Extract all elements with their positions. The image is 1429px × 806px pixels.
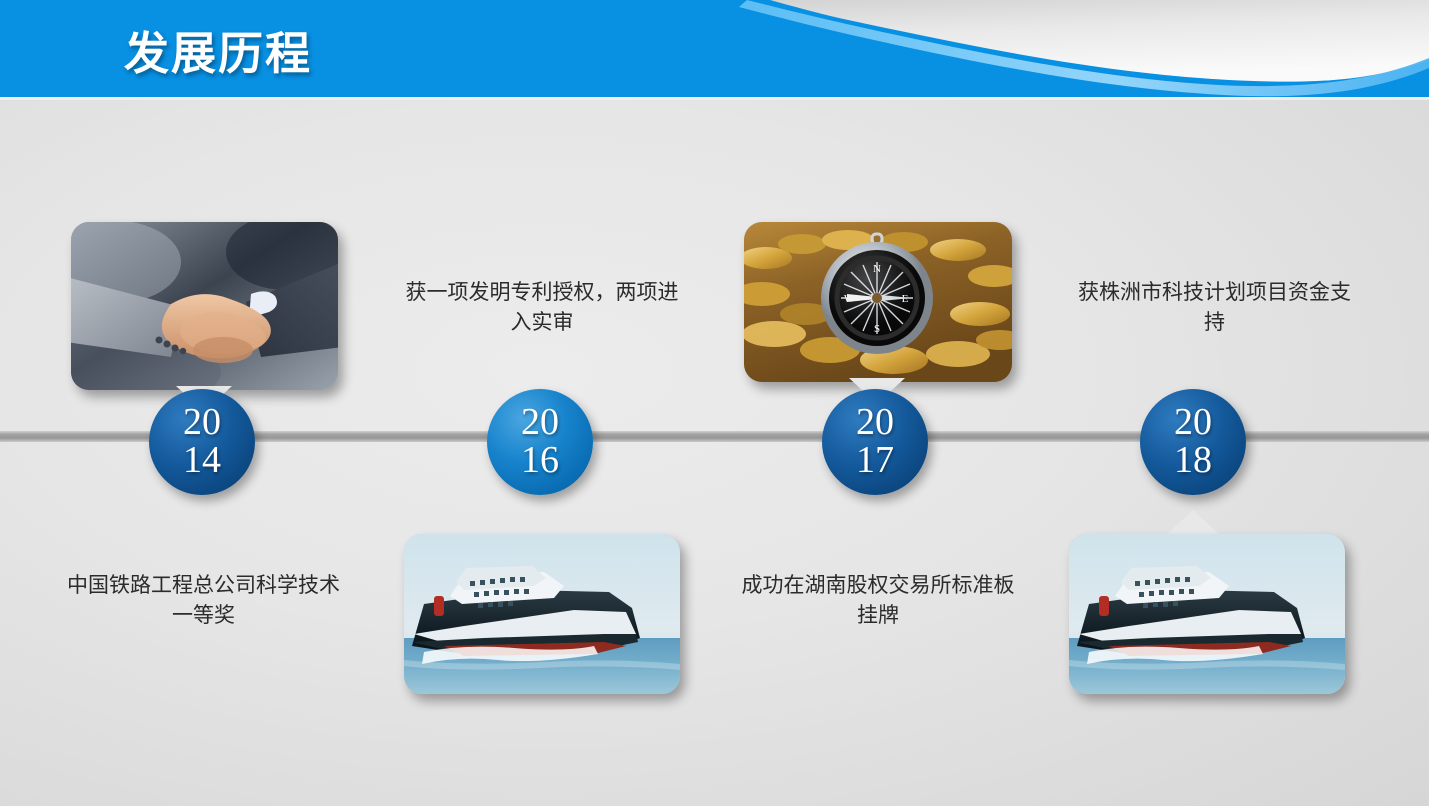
milestone-caption-2017: 成功在湖南股权交易所标准板挂牌 [738, 571, 1018, 631]
milestone-image-notch-2018 [1165, 510, 1221, 536]
year-node-2017[interactable]: 20 17 [822, 389, 928, 495]
year-bottom-2018: 18 [1174, 442, 1212, 480]
milestone-image-handshake [71, 222, 338, 390]
year-bottom-2014: 14 [183, 442, 221, 480]
page-title: 发展历程 [124, 17, 312, 82]
year-node-2014[interactable]: 20 14 [149, 389, 255, 495]
year-top-2017: 20 [856, 404, 894, 442]
year-bottom-2016: 16 [521, 442, 559, 480]
year-top-2018: 20 [1174, 404, 1212, 442]
slide-canvas: 发展历程 [0, 0, 1429, 806]
year-top-2014: 20 [183, 404, 221, 442]
year-node-2016[interactable]: 20 16 [487, 389, 593, 495]
milestone-image-notch-2016 [512, 510, 568, 536]
milestone-caption-2014: 中国铁路工程总公司科学技术一等奖 [66, 571, 341, 631]
year-top-2016: 20 [521, 404, 559, 442]
milestone-image-ship-2018 [1069, 534, 1345, 694]
milestone-caption-2018: 获株洲市科技计划项目资金支持 [1077, 278, 1352, 338]
year-node-2018[interactable]: 20 18 [1140, 389, 1246, 495]
milestone-image-compass-coins: N S E W [744, 222, 1012, 382]
header-underline [0, 97, 1429, 100]
svg-text:S: S [874, 323, 880, 335]
milestone-caption-2016: 获一项发明专利授权，两项进入实审 [402, 278, 682, 338]
year-bottom-2017: 17 [856, 442, 894, 480]
header-swoosh-decoration [669, 0, 1429, 97]
slide-header: 发展历程 [0, 0, 1429, 97]
milestone-image-ship-2016 [404, 534, 680, 694]
svg-text:N: N [873, 263, 881, 275]
svg-text:E: E [902, 293, 909, 305]
